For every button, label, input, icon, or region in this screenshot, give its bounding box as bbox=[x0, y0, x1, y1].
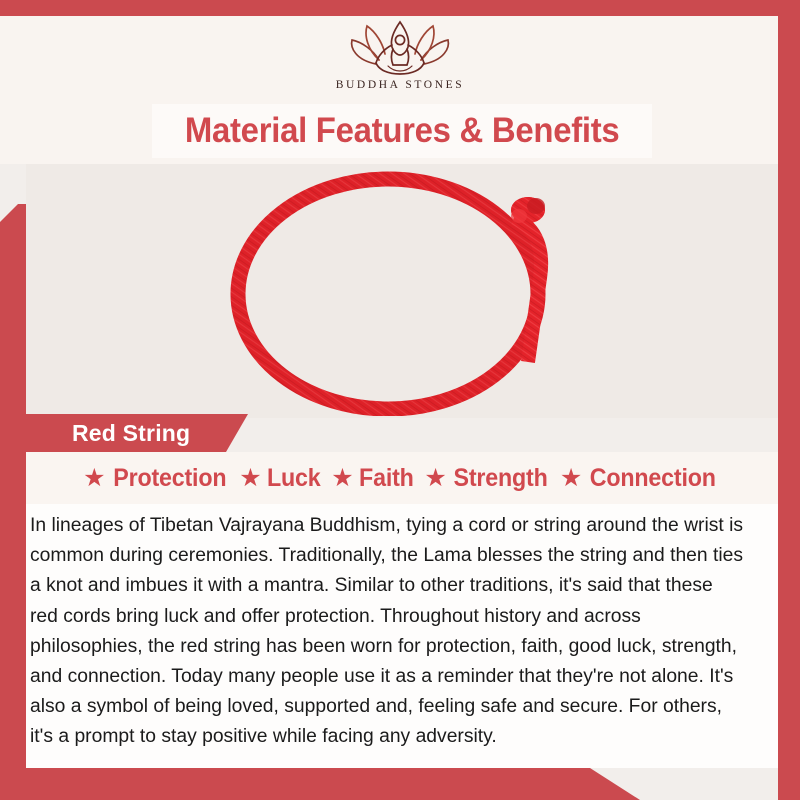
star-icon: ★ bbox=[331, 466, 353, 491]
star-icon: ★ bbox=[424, 466, 446, 491]
benefit-label: Connection bbox=[590, 464, 716, 493]
page-title: Material Features & Benefits bbox=[185, 111, 620, 151]
benefit-label: Luck bbox=[267, 464, 321, 493]
description-text: In lineages of Tibetan Vajrayana Buddhis… bbox=[30, 510, 745, 752]
top-accent-bar bbox=[0, 0, 800, 16]
product-image-area bbox=[26, 164, 778, 418]
benefit-item-connection: ★ Connection bbox=[560, 464, 721, 493]
benefit-item-strength: ★ Strength bbox=[424, 464, 551, 493]
title-banner: Material Features & Benefits bbox=[152, 104, 652, 158]
infographic-poster: BUDDHA STONES Material Features & Benefi… bbox=[0, 0, 800, 800]
benefit-label: Protection bbox=[113, 464, 226, 493]
star-icon: ★ bbox=[83, 466, 105, 491]
benefit-item-protection: ★ Protection bbox=[83, 464, 230, 493]
benefit-label: Strength bbox=[453, 464, 547, 493]
product-name-ribbon: Red String bbox=[26, 414, 248, 452]
star-icon: ★ bbox=[239, 466, 261, 491]
benefit-item-faith: ★ Faith bbox=[331, 464, 415, 493]
benefits-list: ★ Protection ★ Luck ★ Faith ★ Strength ★… bbox=[26, 452, 778, 504]
benefit-item-luck: ★ Luck bbox=[239, 464, 322, 493]
description-panel: In lineages of Tibetan Vajrayana Buddhis… bbox=[26, 504, 778, 768]
lotus-meditation-figure-icon bbox=[346, 16, 454, 78]
benefit-label: Faith bbox=[359, 464, 414, 493]
product-name-label: Red String bbox=[26, 420, 190, 447]
braided-red-cord-bracelet-icon bbox=[192, 166, 612, 416]
star-icon: ★ bbox=[560, 466, 582, 491]
brand-name: BUDDHA STONES bbox=[336, 79, 464, 91]
bottom-accent-bar bbox=[0, 768, 640, 800]
right-accent-bar bbox=[778, 0, 800, 800]
brand-logo: BUDDHA STONES bbox=[0, 16, 800, 100]
left-accent-bar bbox=[0, 204, 26, 800]
